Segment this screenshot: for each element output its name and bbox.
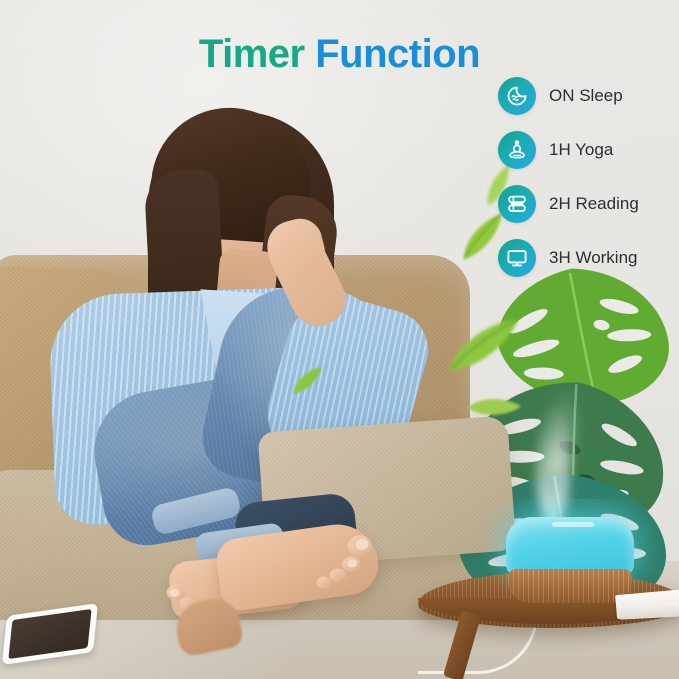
aroma-diffuser bbox=[506, 517, 634, 603]
feature-label: 1H Yoga bbox=[549, 140, 613, 160]
feature-item-2h-reading[interactable]: 2H Reading bbox=[498, 184, 678, 224]
feature-item-1h-yoga[interactable]: 1H Yoga bbox=[498, 130, 678, 170]
timer-feature-list: ON Sleep 1H Yoga bbox=[498, 76, 678, 292]
computer-monitor-icon bbox=[498, 239, 536, 277]
feature-label: ON Sleep bbox=[549, 86, 623, 106]
title-word-function: Function bbox=[315, 32, 480, 76]
feature-label: 3H Working bbox=[549, 248, 638, 268]
stacked-books-icon bbox=[498, 185, 536, 223]
product-marketing-image: Timer Function ON Sleep bbox=[0, 0, 679, 679]
moon-sleep-icon bbox=[498, 77, 536, 115]
diffuser-mist-vent bbox=[552, 522, 594, 527]
title-word-timer: Timer bbox=[199, 32, 305, 76]
toe bbox=[316, 576, 332, 590]
page-title: Timer Function bbox=[0, 34, 679, 74]
toe bbox=[329, 568, 347, 583]
feature-item-on-sleep[interactable]: ON Sleep bbox=[498, 76, 678, 116]
diffuser-wood-base bbox=[508, 569, 632, 603]
yoga-lotus-icon bbox=[498, 131, 536, 169]
feature-label: 2H Reading bbox=[549, 194, 639, 214]
diffuser-light-dome bbox=[506, 517, 634, 575]
feature-item-3h-working[interactable]: 3H Working bbox=[498, 238, 678, 278]
tablet-screen bbox=[8, 609, 91, 659]
